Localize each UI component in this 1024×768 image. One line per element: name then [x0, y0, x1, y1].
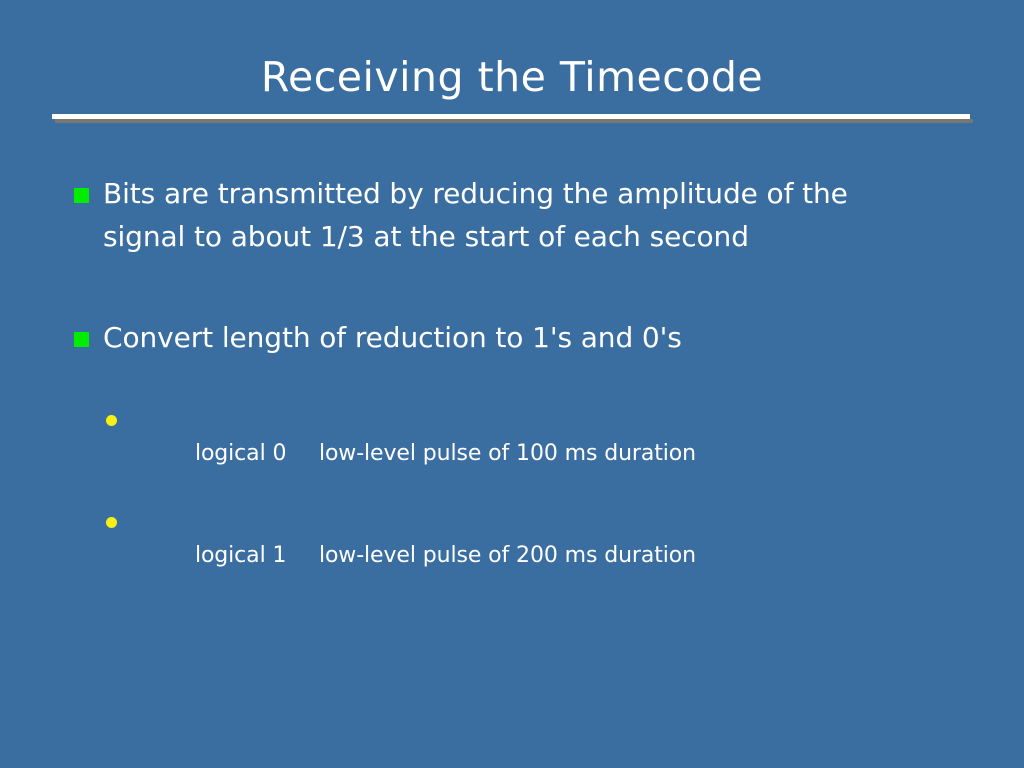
title-block: Receiving the Timecode [0, 52, 1024, 102]
green-square-bullet-icon [74, 188, 89, 203]
list-item: logical 1low-level pulse of 200 ms durat… [106, 505, 964, 607]
bullet-text: Bits are transmitted by reducing the amp… [103, 172, 903, 258]
sub-bullet-label: logical 0 [195, 437, 319, 471]
sub-bullet-text: logical 1low-level pulse of 200 ms durat… [126, 505, 964, 607]
yellow-dot-bullet-icon [106, 415, 117, 426]
title-divider [52, 114, 970, 123]
sub-bullet-label: logical 1 [195, 539, 319, 573]
sub-bullet-text: logical 0low-level pulse of 100 ms durat… [126, 403, 964, 505]
divider-shadow [55, 119, 973, 123]
bullet-list: Bits are transmitted by reducing the amp… [74, 172, 964, 607]
yellow-dot-bullet-icon [106, 517, 117, 528]
bullet-text: Convert length of reduction to 1's and 0… [103, 316, 903, 359]
green-square-bullet-icon [74, 332, 89, 347]
sub-bullet-description: low-level pulse of 100 ms duration [319, 441, 696, 466]
presentation-slide: Receiving the Timecode Bits are transmit… [0, 0, 1024, 768]
divider-line [52, 114, 970, 119]
page-title: Receiving the Timecode [0, 52, 1024, 102]
list-item: logical 0low-level pulse of 100 ms durat… [106, 403, 964, 505]
list-item: Bits are transmitted by reducing the amp… [74, 172, 964, 258]
sub-bullet-description: low-level pulse of 200 ms duration [319, 543, 696, 568]
sub-bullet-list: logical 0low-level pulse of 100 ms durat… [106, 403, 964, 607]
list-item: Convert length of reduction to 1's and 0… [74, 316, 964, 359]
